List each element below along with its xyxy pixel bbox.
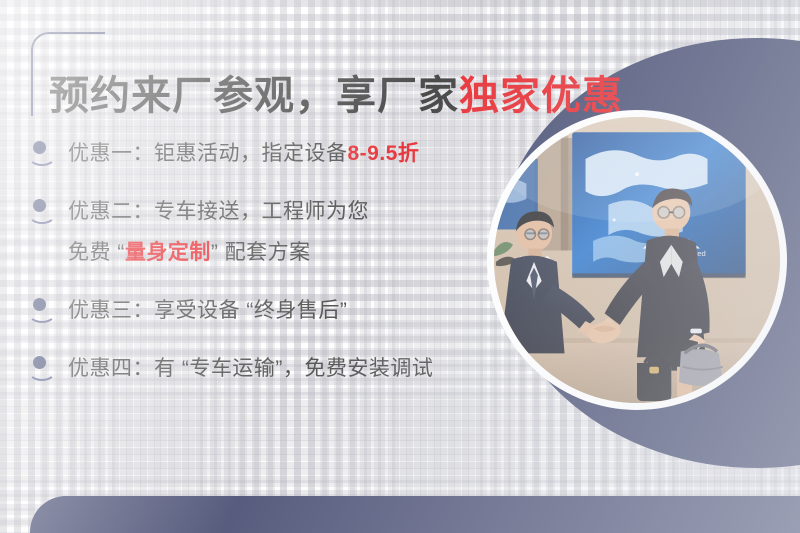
offer-text-line: 优惠二：专车接送，工程师为您: [68, 191, 498, 232]
bullet-dot-icon: [28, 199, 54, 221]
offer-text-segment: 优惠三：享受设备 “终身售后”: [68, 299, 347, 322]
offer-text-line: 优惠四：有 “专车运输”，免费安装调试: [68, 348, 498, 389]
list-item: 优惠二：专车接送，工程师为您 免费 “量身定制” 配套方案: [28, 191, 498, 273]
handshake-photo: ng United: [494, 117, 780, 403]
offer-text-line: 优惠三：享受设备 “终身售后”: [68, 290, 498, 331]
list-item: 优惠三：享受设备 “终身售后”: [28, 290, 498, 331]
offer-list: 优惠一：钜惠活动，指定设备8-9.5折 优惠二：专车接送，工程师为您 免费 “量…: [28, 133, 498, 406]
promo-banner: 预约来厂参观，享厂家独家优惠 优惠一：钜惠活动，指定设备8-9.5折 优惠二：专…: [0, 0, 800, 533]
list-item: 优惠一：钜惠活动，指定设备8-9.5折: [28, 133, 498, 174]
title-highlight-text: 独家优惠: [459, 74, 623, 118]
offer-text-segment: 免费 “: [68, 241, 125, 264]
offer-text-segment: 优惠四：有 “专车运输”，免费安装调试: [68, 357, 433, 380]
offer-text-segment: 优惠一：钜惠活动，指定设备: [68, 142, 348, 165]
title-main-text: 预约来厂参观，享厂家: [49, 74, 459, 118]
offer-text-line: 免费 “量身定制” 配套方案: [68, 232, 498, 273]
offer-text-segment: ” 配套方案: [211, 241, 311, 264]
offer-highlight-segment: 8-9.5折: [348, 142, 420, 165]
bullet-dot-icon: [28, 141, 54, 163]
offer-text-segment: 优惠二：专车接送，工程师为您: [68, 200, 369, 223]
bullet-dot-icon: [28, 356, 54, 378]
photo-circle-frame: ng United: [487, 110, 787, 410]
navy-bottom-bar: [30, 496, 800, 533]
list-item: 优惠四：有 “专车运输”，免费安装调试: [28, 348, 498, 389]
bullet-dot-icon: [28, 298, 54, 320]
offer-text-line: 优惠一：钜惠活动，指定设备8-9.5折: [68, 133, 498, 174]
offer-highlight-segment: 量身定制: [125, 241, 211, 264]
page-title: 预约来厂参观，享厂家独家优惠: [49, 76, 623, 116]
